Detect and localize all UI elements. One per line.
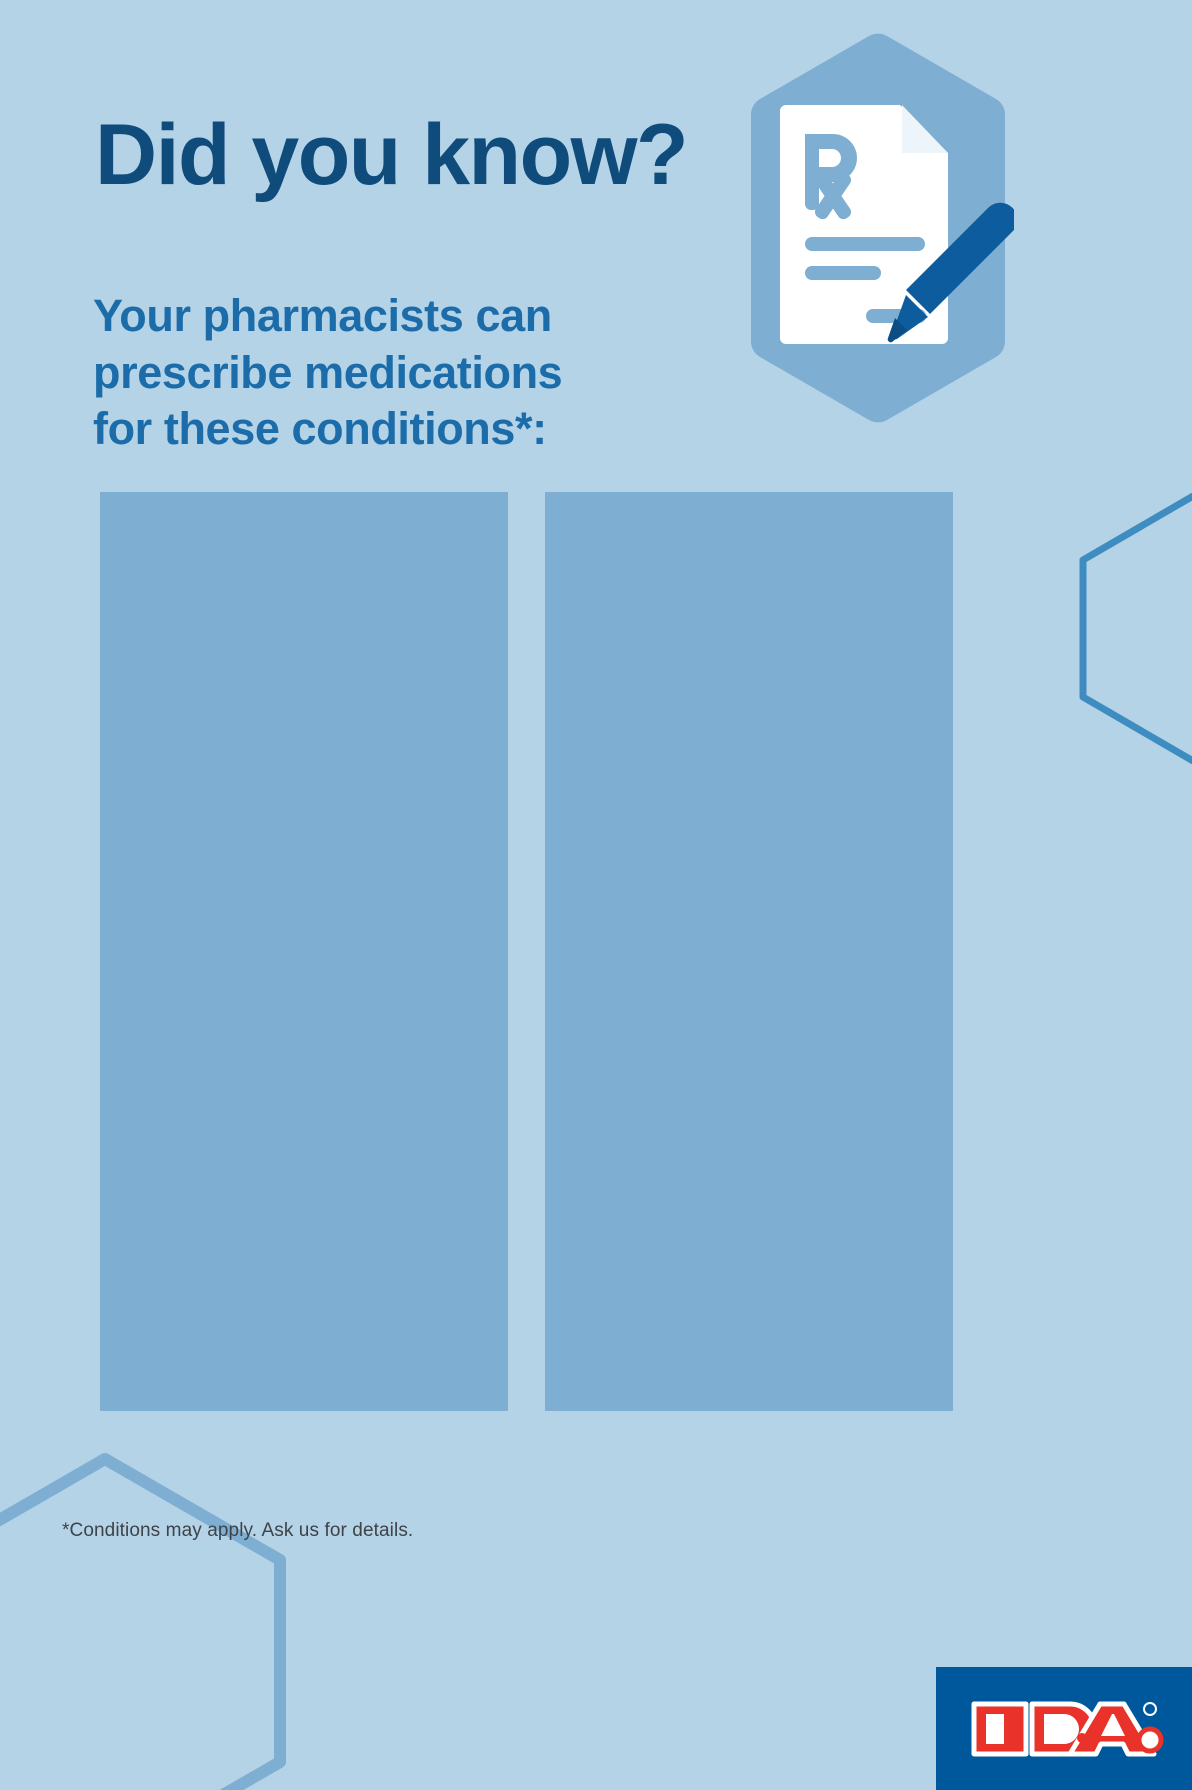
conditions-column-left (100, 492, 508, 1411)
hexagon-outline-right (1083, 492, 1192, 765)
paper-line-2 (805, 266, 881, 280)
rx-badge (744, 30, 1014, 440)
conditions-column-right (545, 492, 953, 1411)
paper-line-1 (805, 237, 925, 251)
subtitle-line-3: for these conditions*: (93, 401, 733, 458)
poster-canvas: Did you know? Your pharmacists can presc… (0, 0, 1192, 1790)
footnote-text: *Conditions may apply. Ask us for detail… (62, 1520, 413, 1542)
registered-mark-icon (1144, 1703, 1156, 1715)
ida-logo (936, 1667, 1192, 1790)
subtitle-line-2: prescribe medications (93, 345, 733, 402)
ida-logo-mark (974, 1703, 1161, 1754)
ida-logo-dot (1139, 1729, 1161, 1751)
page-title: Did you know? (95, 112, 855, 198)
subtitle-line-1: Your pharmacists can (93, 288, 733, 345)
page-subtitle: Your pharmacists can prescribe medicatio… (93, 288, 733, 458)
hexagon-outline-bottom-left (0, 1459, 280, 1790)
